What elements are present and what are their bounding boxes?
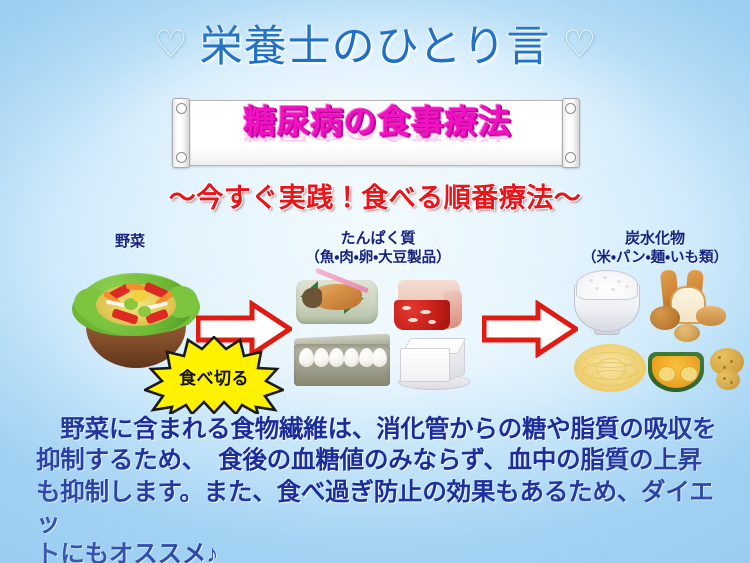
rice-grain — [625, 285, 629, 288]
salad-piece-cucumber — [138, 306, 151, 317]
scroll-roll-left-icon — [172, 98, 190, 168]
category-detail-carbohydrate: （米・パン・麺・いも類） — [560, 249, 750, 269]
category-name-protein: たんぱく質 — [340, 230, 415, 247]
rice-grain — [595, 287, 599, 290]
meat-marbling — [402, 306, 411, 310]
poster-subtitle: 〜今すぐ実践！食べる順番療法〜 — [0, 176, 750, 215]
meat-marbling — [420, 310, 431, 314]
bun-icon — [674, 324, 700, 342]
body-paragraph: 野菜に含まれる食物繊維は、消化管からの糖や脂質の吸収を 抑制するため、 食後の血… — [36, 414, 726, 563]
potato-eye — [718, 356, 721, 359]
body-line-1: 野菜に含まれる食物繊維は、消化管からの糖や脂質の吸収を — [36, 414, 726, 445]
scroll-paper: 糖尿病の食事療法 糖尿病の食事療法 — [186, 100, 568, 166]
meat-marbling — [428, 320, 436, 324]
rice-heap-shape — [576, 270, 638, 300]
category-label-protein: たんぱく質 （魚・肉・卵・大豆製品） — [278, 229, 478, 269]
protein-foods-image — [294, 272, 474, 396]
potato-eye — [723, 366, 726, 369]
egg-item — [372, 348, 387, 367]
grilled-fish-char-shape — [302, 288, 322, 308]
scroll-curl-bottom-right-icon — [565, 152, 576, 163]
eat-all-badge-label: 食べ切る — [144, 364, 284, 389]
tofu-icon — [400, 348, 450, 382]
carbohydrate-foods-image — [570, 268, 748, 400]
heart-icon-right: ♡ — [562, 26, 596, 64]
potato-icon — [716, 370, 740, 390]
meat-block-icon — [394, 300, 450, 330]
scroll-roll-right-icon — [562, 98, 580, 168]
egg-item — [299, 348, 314, 367]
scroll-banner: 糖尿病の食事療法 糖尿病の食事療法 — [172, 98, 580, 166]
bread-roll-icon — [696, 306, 726, 326]
infographic-poster: ♡栄養士のひとり言♡ 糖尿病の食事療法 糖尿病の食事療法 〜今すぐ実践！食べる順… — [0, 0, 750, 563]
category-name-vegetable: 野菜 — [115, 233, 145, 250]
heart-icon-left: ♡ — [154, 26, 188, 64]
noodle-strand — [596, 358, 626, 380]
category-detail-protein: （魚・肉・卵・大豆製品） — [278, 249, 478, 269]
kabocha-seed — [680, 366, 698, 382]
salad-piece-corn — [132, 290, 147, 302]
poster-header: ♡栄養士のひとり言♡ — [0, 26, 750, 69]
rice-grain — [603, 276, 607, 279]
meat-marbling — [408, 318, 418, 322]
category-name-carbohydrate: 炭水化物 — [625, 230, 685, 247]
category-label-carbohydrate: 炭水化物 （米・パン・麺・いも類） — [560, 229, 750, 269]
category-label-vegetable: 野菜 — [70, 232, 190, 252]
egg-item — [329, 348, 344, 367]
body-line-2: 抑制するため、 食後の血糖値のみならず、血中の脂質の上昇 — [36, 445, 726, 476]
potato-eye — [723, 377, 726, 380]
scroll-curl-bottom-left-icon — [176, 152, 187, 163]
body-line-4: トにもオススメ♪ — [36, 539, 726, 563]
eat-all-badge: 食べ切る — [144, 336, 284, 414]
arrow-right-icon-2 — [482, 300, 578, 358]
potato-eye — [730, 360, 733, 363]
potato-eye — [730, 381, 733, 384]
rice-grain — [589, 279, 593, 282]
page-title: 栄養士のひとり言 — [200, 26, 551, 69]
egg-item — [314, 348, 329, 367]
kabocha-seed — [658, 366, 676, 382]
scroll-banner-title: 糖尿病の食事療法 — [187, 105, 567, 140]
round-bread-icon — [650, 306, 680, 330]
noodles-icon — [574, 344, 646, 392]
scroll-curl-top-left-icon — [176, 103, 187, 114]
body-line-3: も抑制します。また、食べ過ぎ防止の効果もあるため、ダイエッ — [36, 477, 726, 540]
rice-grain — [611, 288, 615, 291]
rice-grain — [617, 280, 621, 283]
scroll-curl-top-right-icon — [565, 103, 576, 114]
egg-item — [344, 348, 359, 367]
